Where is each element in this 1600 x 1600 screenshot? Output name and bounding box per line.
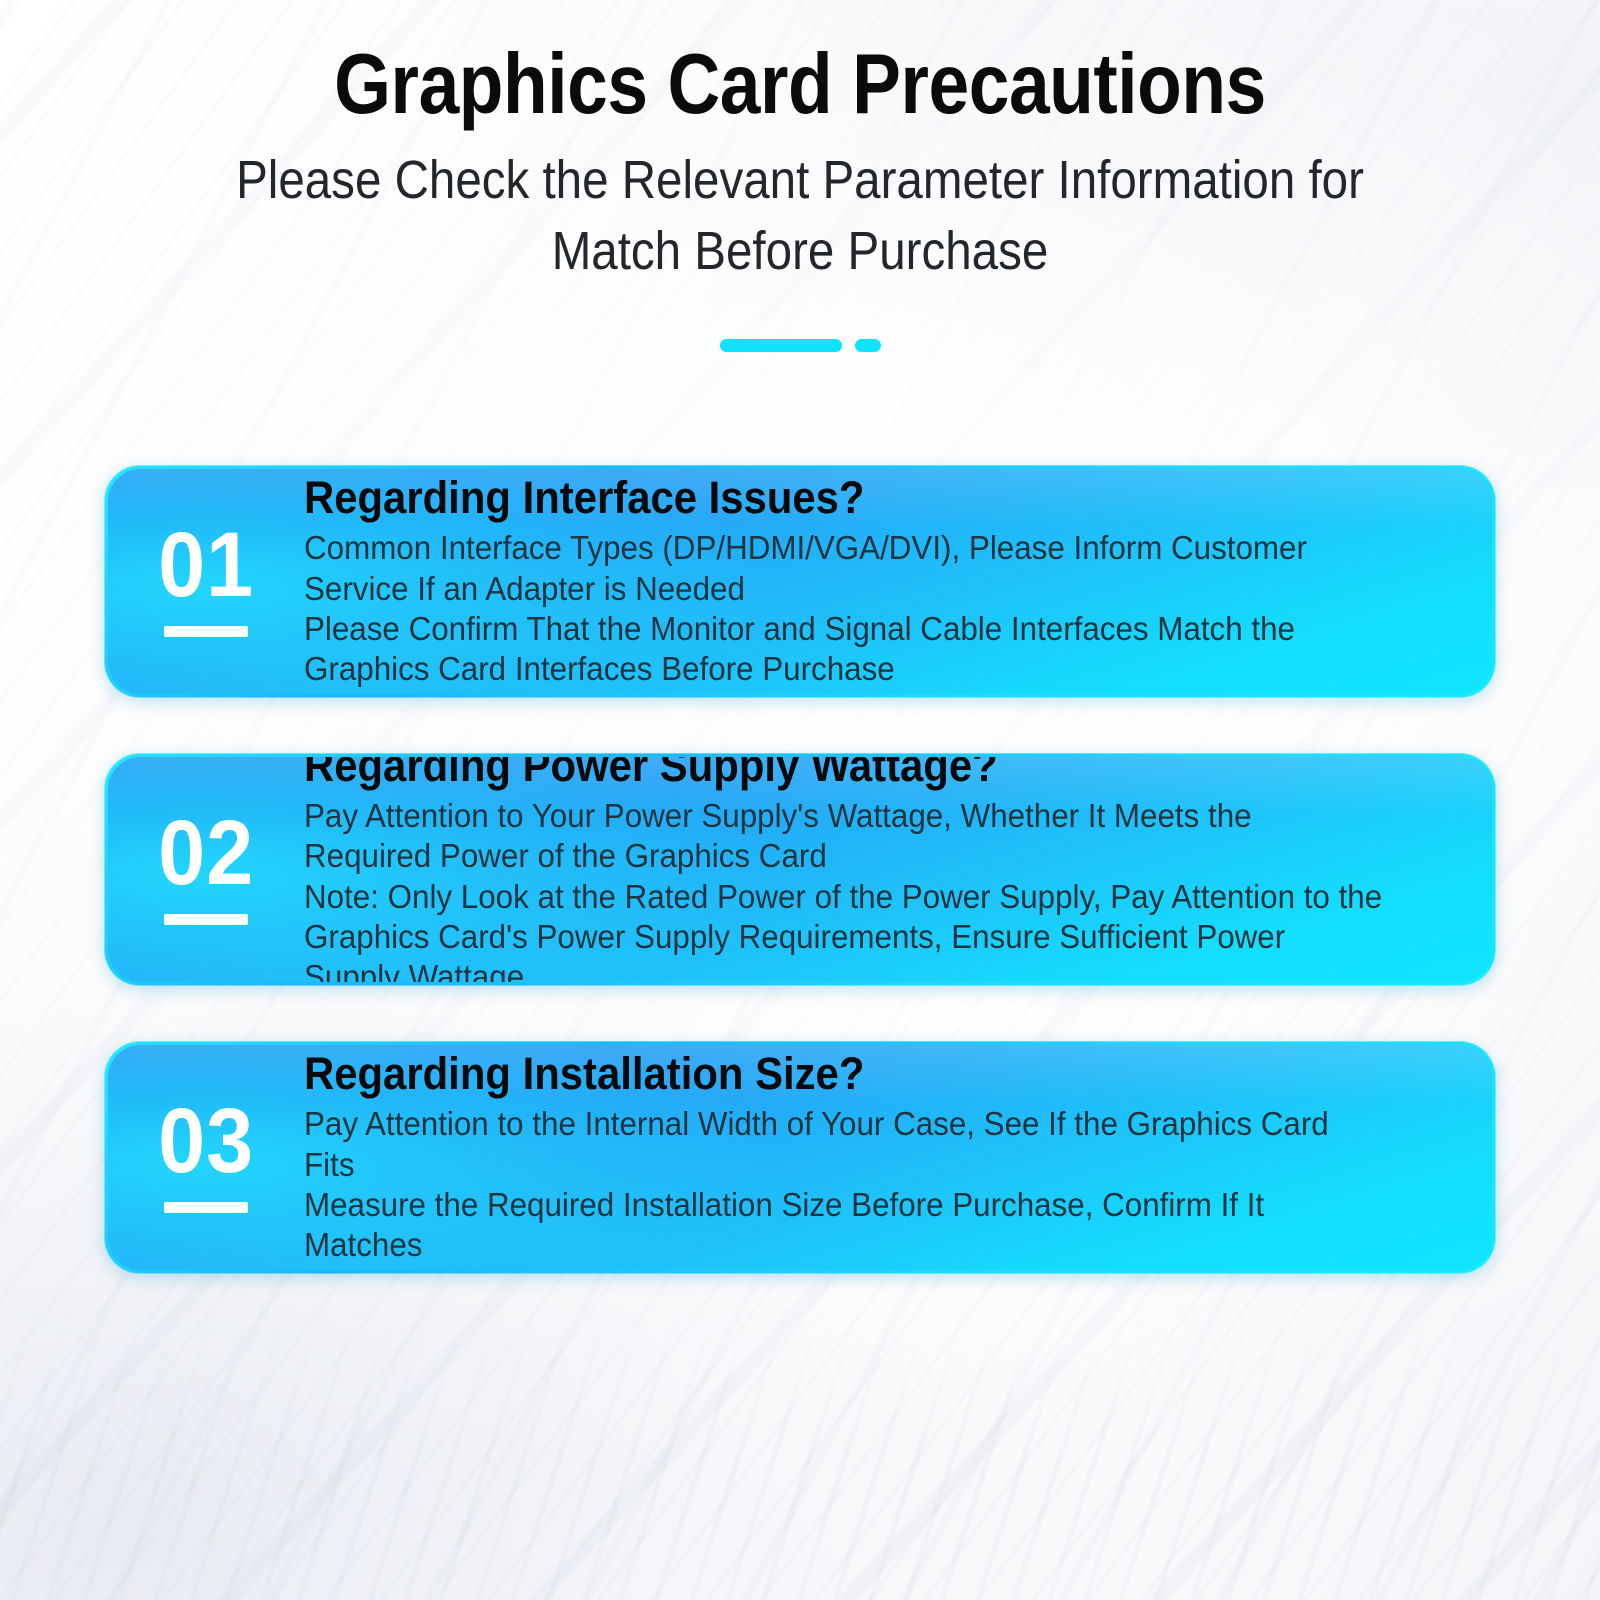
precaution-card: 03 Regarding Installation Size? Pay Atte… — [104, 1041, 1496, 1274]
section-divider — [0, 339, 1600, 352]
precaution-card-number: 03 — [158, 1099, 254, 1184]
precaution-card-content: Regarding Installation Size? Pay Attenti… — [304, 1048, 1492, 1267]
precaution-card-number: 01 — [158, 523, 254, 608]
precaution-card-line: Please Confirm That the Monitor and Sign… — [304, 609, 1383, 690]
page-subtitle: Please Check the Relevant Parameter Info… — [175, 145, 1425, 288]
precaution-card-title: Regarding Power Supply Wattage? — [304, 757, 1360, 792]
precaution-card-content: Regarding Interface Issues? Common Inter… — [304, 472, 1492, 691]
precaution-card-description: Pay Attention to Your Power Supply's Wat… — [304, 796, 1383, 982]
precaution-card-content: Regarding Power Supply Wattage? Pay Atte… — [304, 757, 1492, 982]
precaution-card-number-underline — [164, 914, 248, 925]
precaution-card-line: Common Interface Types (DP/HDMI/VGA/DVI)… — [304, 528, 1383, 609]
precaution-card-line: Pay Attention to Your Power Supply's Wat… — [304, 796, 1383, 877]
precaution-card-line: Measure the Required Installation Size B… — [304, 1185, 1383, 1266]
page-header: Graphics Card Precautions Please Check t… — [0, 0, 1600, 287]
divider-dot-icon — [855, 339, 881, 352]
precaution-card-surface: 01 Regarding Interface Issues? Common In… — [108, 469, 1492, 694]
precaution-card-description: Common Interface Types (DP/HDMI/VGA/DVI)… — [304, 528, 1383, 689]
precaution-card-line: Pay Attention to the Internal Width of Y… — [304, 1104, 1383, 1185]
precaution-card-line: Note: Only Look at the Rated Power of th… — [304, 877, 1383, 983]
precaution-card-number-block: 02 — [108, 811, 304, 929]
precaution-card-description: Pay Attention to the Internal Width of Y… — [304, 1104, 1383, 1265]
divider-bar-icon — [720, 339, 842, 352]
precaution-card-number-block: 01 — [108, 523, 304, 641]
page-title: Graphics Card Precautions — [112, 42, 1488, 129]
precaution-card-list: 01 Regarding Interface Issues? Common In… — [104, 352, 1496, 1274]
precaution-card: 01 Regarding Interface Issues? Common In… — [104, 465, 1496, 698]
precaution-card-title: Regarding Interface Issues? — [304, 472, 1360, 524]
precaution-card-surface: 02 Regarding Power Supply Wattage? Pay A… — [108, 757, 1492, 982]
precaution-card-number: 02 — [158, 811, 254, 896]
precaution-card-number-underline — [164, 626, 248, 637]
precaution-card: 02 Regarding Power Supply Wattage? Pay A… — [104, 753, 1496, 986]
precaution-card-number-block: 03 — [108, 1099, 304, 1217]
background-bottom-streaks — [0, 1300, 1600, 1600]
precaution-card-title: Regarding Installation Size? — [304, 1048, 1360, 1100]
precaution-card-number-underline — [164, 1202, 248, 1213]
precaution-card-surface: 03 Regarding Installation Size? Pay Atte… — [108, 1045, 1492, 1270]
infographic-page: Graphics Card Precautions Please Check t… — [0, 0, 1600, 1600]
